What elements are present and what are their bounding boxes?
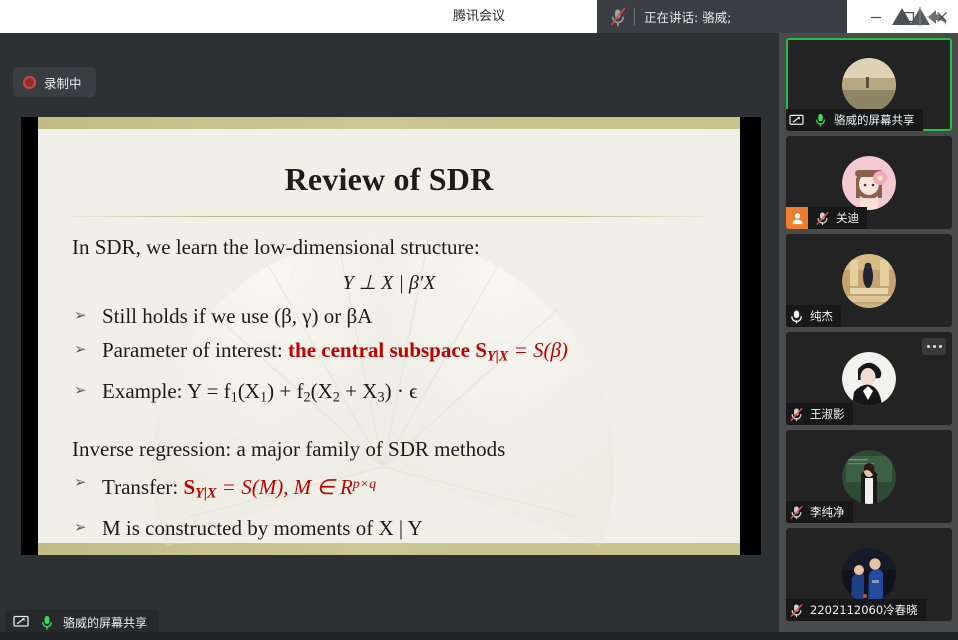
participant-nameplate: 李纯净 xyxy=(786,501,853,523)
mic-muted-icon xyxy=(812,207,832,229)
bullet-text: Example: Y = f xyxy=(102,379,231,403)
divider xyxy=(634,8,635,25)
tencent-meeting-window: 腾讯会议 正在讲话: 骆威; xyxy=(0,0,958,640)
mic-muted-icon xyxy=(786,403,806,425)
bullet-item: ➢ Transfer: SY|X = S(M), M ∈ Rp×q xyxy=(68,468,710,509)
participant-nameplate: 纯杰 xyxy=(786,305,841,327)
participant-tile[interactable]: 2202112060冷春晓 xyxy=(786,528,952,621)
mic-muted-icon xyxy=(786,599,806,621)
bullet-subscript: Y|X xyxy=(195,486,216,502)
bullet-subscript: 1 xyxy=(231,389,238,405)
bullet-emphasis: the central subspace S xyxy=(288,338,487,362)
speaking-status-text: 正在讲话: 骆威; xyxy=(644,7,731,26)
slide-equation: Y ⊥ X | β′X xyxy=(68,270,710,295)
bullet-subscript: 3 xyxy=(377,389,384,405)
participant-name: 李纯净 xyxy=(810,504,845,520)
participant-tile[interactable]: 关迪 xyxy=(786,136,952,229)
bullet-list-bottom: ➢ Transfer: SY|X = S(M), M ∈ Rp×q ➢ M is… xyxy=(68,468,710,543)
mic-on-icon xyxy=(786,305,806,327)
participant-rail[interactable]: 骆威的屏幕共享 xyxy=(779,33,958,640)
title-bar: 腾讯会议 正在讲话: 骆威; xyxy=(0,0,958,33)
avatar xyxy=(842,254,896,308)
share-status-footer: 骆威的屏幕共享 xyxy=(5,610,159,634)
share-footer-name: 骆威的屏幕共享 xyxy=(63,614,147,631)
bullet-subscript: 2 xyxy=(303,389,310,405)
bullet-subscript: Y|X xyxy=(487,349,508,365)
os-taskbar xyxy=(0,632,958,640)
avatar xyxy=(842,352,896,406)
participant-name: 2202112060冷春晓 xyxy=(810,602,918,618)
mic-muted-icon xyxy=(605,6,631,28)
bullet-text: Parameter of interest: xyxy=(102,338,288,362)
participant-tile[interactable]: 纯杰 xyxy=(786,234,952,327)
participant-name: 王淑影 xyxy=(810,406,845,422)
bullet-text: ) + f xyxy=(267,379,303,403)
person-badge-icon xyxy=(786,207,808,229)
slide-content: Review of SDR In SDR, we learn the low-d… xyxy=(38,129,740,543)
participant-name: 纯杰 xyxy=(810,308,833,324)
bullet-item: ➢ Example: Y = f1(X1) + f2(X2 + X3) · ϵ xyxy=(68,376,710,414)
bullet-chevron-icon: ➢ xyxy=(74,513,87,544)
mic-on-icon xyxy=(37,611,57,633)
dot xyxy=(933,345,936,348)
bullet-item: ➢ M is constructed by moments of X | Y xyxy=(68,513,710,544)
participant-tile[interactable]: 王淑影 xyxy=(786,332,952,425)
slide-section-text: Inverse regression: a major family of SD… xyxy=(72,437,710,462)
participant-tile[interactable]: 骆威的屏幕共享 xyxy=(786,38,952,131)
title-divider xyxy=(72,216,706,217)
avatar xyxy=(842,156,896,210)
slide-title: Review of SDR xyxy=(68,161,710,198)
minimize-button[interactable] xyxy=(859,0,892,33)
bullet-text: (X xyxy=(311,379,333,403)
slide-top-band xyxy=(38,117,740,129)
record-dot-icon xyxy=(23,76,36,89)
screen-share-icon xyxy=(786,109,806,131)
bullet-chevron-icon: ➢ xyxy=(74,376,87,407)
presentation-slide: Review of SDR In SDR, we learn the low-d… xyxy=(38,117,740,555)
bullet-chevron-icon: ➢ xyxy=(74,301,87,332)
recording-label: 录制中 xyxy=(44,73,82,92)
speaking-status-bar: 正在讲话: 骆威; xyxy=(597,0,847,33)
avatar xyxy=(842,450,896,504)
slide-lead-text: In SDR, we learn the low-dimensional str… xyxy=(72,235,710,260)
dot xyxy=(927,345,930,348)
bullet-text: ) · ϵ xyxy=(385,379,418,403)
bullet-chevron-icon: ➢ xyxy=(74,335,87,366)
bullet-text: Transfer: xyxy=(102,475,183,499)
participant-nameplate: 关迪 xyxy=(786,207,867,229)
bullet-item: ➢ Parameter of interest: the central sub… xyxy=(68,335,710,373)
window-controls xyxy=(859,0,958,33)
tile-more-options-button[interactable] xyxy=(922,338,946,355)
bullet-emphasis: S xyxy=(183,475,195,499)
participant-nameplate: 王淑影 xyxy=(786,403,853,425)
participant-name: 骆威的屏幕共享 xyxy=(834,112,915,128)
screen-share-icon xyxy=(11,611,31,633)
bullet-emphasis-tail: = S(β) xyxy=(508,338,568,362)
maximize-button[interactable] xyxy=(892,0,925,33)
participant-tile[interactable]: 李纯净 xyxy=(786,430,952,523)
bullet-chevron-icon: ➢ xyxy=(74,468,87,499)
participant-name: 关迪 xyxy=(836,210,859,226)
dot xyxy=(939,345,942,348)
bullet-text: (X xyxy=(238,379,260,403)
mic-muted-icon xyxy=(786,501,806,523)
bullet-list-top: ➢ Still holds if we use (β, γ) or βA ➢ P… xyxy=(68,301,710,413)
recording-indicator[interactable]: 录制中 xyxy=(13,67,96,97)
close-button[interactable] xyxy=(925,0,958,33)
participant-nameplate: 2202112060冷春晓 xyxy=(786,599,926,621)
bullet-text: + X xyxy=(340,379,378,403)
bullet-text: M is constructed by moments of X | Y xyxy=(102,516,423,540)
slide-bottom-band xyxy=(38,543,740,555)
mic-on-icon xyxy=(810,109,830,131)
bullet-emphasis-tail: = S(M), M ∈ R xyxy=(217,475,353,499)
avatar xyxy=(842,58,896,112)
shared-screen-stage: 录制中 xyxy=(0,33,779,640)
bullet-text: Still holds if we use (β, γ) or βA xyxy=(102,304,372,328)
avatar xyxy=(842,548,896,602)
bullet-subscript: 2 xyxy=(333,389,340,405)
participant-nameplate: 骆威的屏幕共享 xyxy=(786,109,923,131)
bullet-item: ➢ Still holds if we use (β, γ) or βA xyxy=(68,301,710,332)
bullet-superscript: p×q xyxy=(353,476,376,491)
